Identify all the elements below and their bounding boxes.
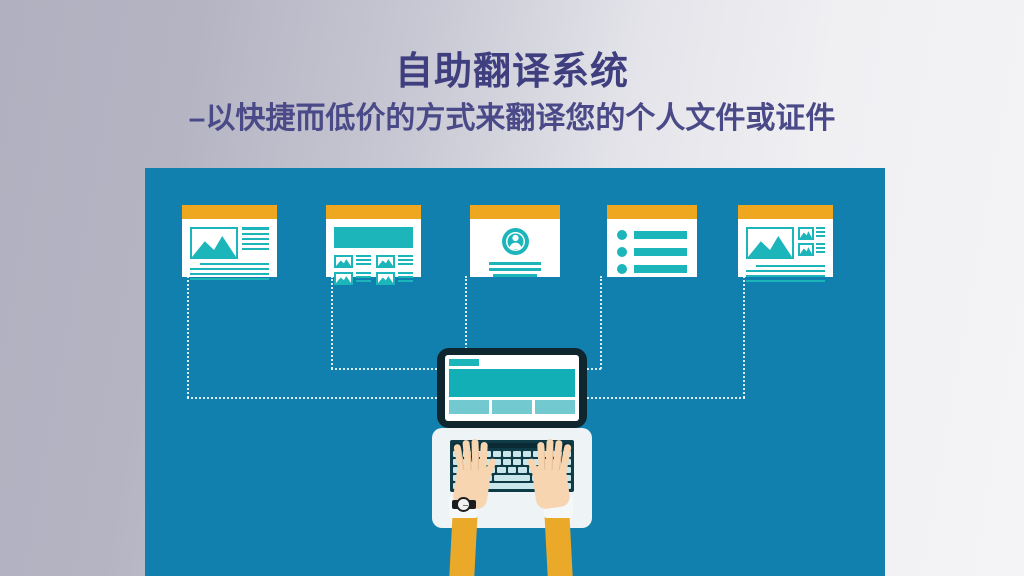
card-sidelines [242, 227, 269, 250]
mountain-graphic [748, 229, 792, 257]
card-body [607, 219, 697, 285]
card-textlines [190, 263, 269, 280]
list-item [617, 264, 687, 274]
document-card-article[interactable] [182, 205, 277, 277]
key [523, 451, 531, 457]
key [503, 451, 511, 457]
key [518, 467, 527, 473]
connector-line-card4 [600, 276, 602, 369]
bullet-list-icon [617, 230, 687, 274]
key [493, 451, 501, 457]
document-card-id[interactable] [470, 205, 560, 277]
card-header-bar [182, 205, 277, 219]
card-body [182, 219, 277, 267]
document-card-list[interactable] [607, 205, 697, 277]
connector-line-card3 [465, 276, 467, 352]
banner-block [334, 227, 413, 248]
card-header-bar [607, 205, 697, 219]
card-header-bar [738, 205, 833, 219]
image-article-icon [190, 227, 238, 259]
page-columns [449, 400, 575, 414]
card-header-bar [470, 205, 560, 219]
spacebar-key [494, 475, 529, 481]
key [513, 459, 521, 465]
page-hero-block [449, 369, 575, 397]
card-textlines [746, 265, 825, 282]
key [508, 467, 517, 473]
document-card-photo[interactable] [738, 205, 833, 277]
mountain-graphic [800, 229, 812, 238]
person-badge-icon [502, 228, 529, 255]
tablet-screen[interactable] [445, 355, 579, 421]
watch-hand [463, 505, 468, 506]
list-item [617, 247, 687, 257]
right-arm-sleeve [544, 512, 572, 576]
watch-icon [456, 497, 471, 512]
page-column [449, 400, 489, 414]
mountain-graphic [378, 257, 393, 266]
list-item [617, 230, 687, 240]
left-arm-sleeve [449, 512, 477, 576]
page-title: 自助翻译系统 [0, 52, 1024, 94]
key [513, 451, 521, 457]
key [497, 467, 506, 473]
tablet-device[interactable] [437, 348, 587, 428]
key [503, 459, 511, 465]
gallery-grid-icon [334, 255, 413, 285]
heading-block: 自助翻译系统 –以快捷而低价的方式来翻译您的个人文件或证件 [0, 0, 1024, 136]
mountain-graphic [336, 274, 351, 283]
page-subtitle: –以快捷而低价的方式来翻译您的个人文件或证件 [0, 102, 1024, 137]
id-textlines [489, 262, 541, 277]
connector-line-card1 [187, 276, 189, 398]
mountain-graphic [378, 274, 393, 283]
document-card-gallery[interactable] [326, 205, 421, 277]
card-body [738, 219, 833, 290]
photo-thumbnails-icon [746, 227, 825, 259]
mountain-graphic [336, 257, 351, 266]
mountain-graphic [192, 229, 236, 257]
page-column [492, 400, 532, 414]
mountain-graphic [800, 245, 812, 254]
browser-tab-block [449, 359, 479, 366]
page-column [535, 400, 575, 414]
card-body [326, 219, 421, 293]
card-header-bar [326, 205, 421, 219]
connector-line-card5 [743, 276, 745, 398]
card-body [470, 219, 560, 285]
